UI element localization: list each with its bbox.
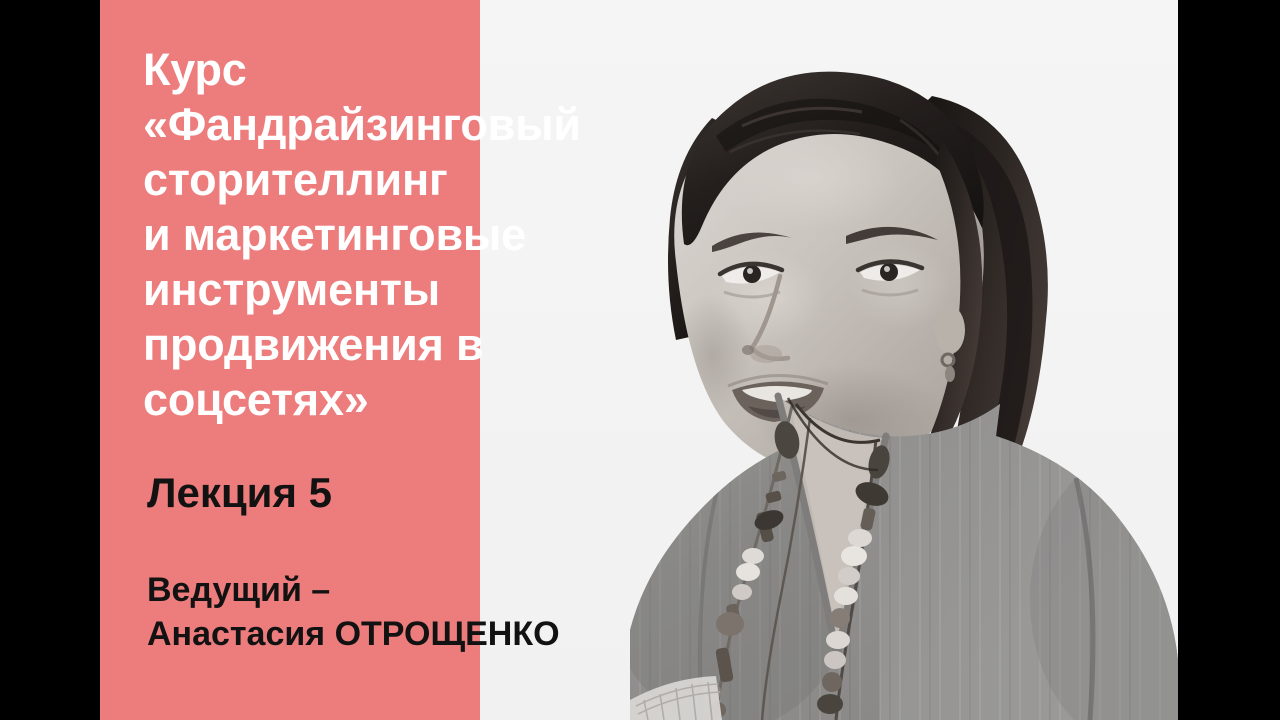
letterbox-bar-right (1178, 0, 1280, 720)
letterbox-bar-left (0, 0, 100, 720)
ear (935, 306, 965, 354)
presenter-name: Ведущий – Анастасия ОТРОЩЕНКО (147, 568, 707, 656)
slide-canvas: Курс «Фандрайзинговый сторителлинг и мар… (100, 0, 1178, 720)
video-title-card: Курс «Фандрайзинговый сторителлинг и мар… (0, 0, 1280, 720)
text-block: Курс «Фандрайзинговый сторителлинг и мар… (143, 0, 763, 720)
course-title: Курс «Фандрайзинговый сторителлинг и мар… (143, 42, 743, 427)
lecture-number: Лекция 5 (147, 468, 332, 518)
